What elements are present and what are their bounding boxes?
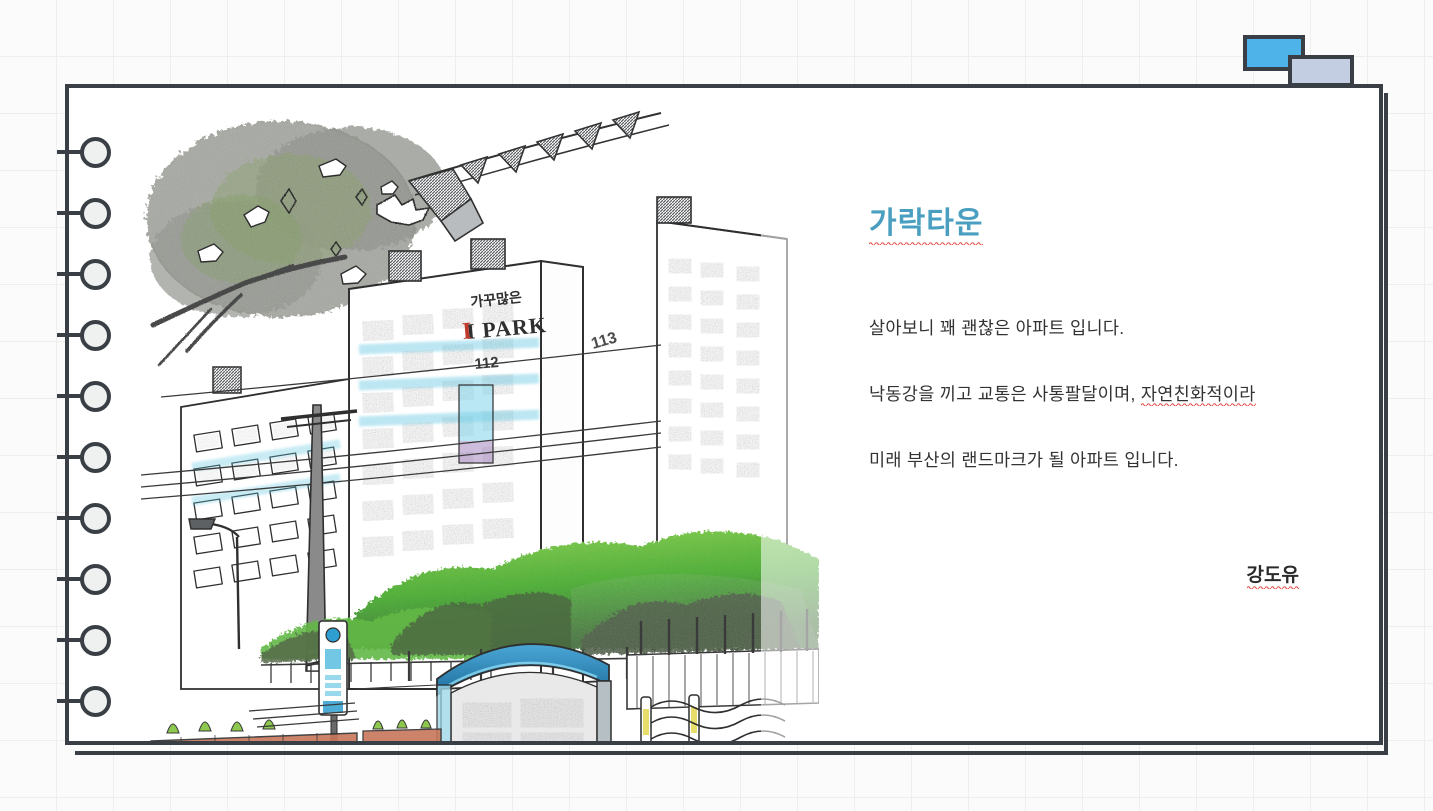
note-line-2: 낙동강을 끼고 교통은 사통팔달이며, 자연친화적이라 (869, 381, 1369, 406)
note-line-2-plain: 낙동강을 끼고 교통은 사통팔달이며, (869, 384, 1141, 404)
note-signature: 강도유 (869, 560, 1369, 589)
spiral-ring-5 (80, 381, 111, 412)
spiral-ring-7 (80, 503, 111, 534)
grey-block-shape (1288, 55, 1354, 87)
slide-canvas: { "background": { "grid_color": "#eeeeee… (0, 0, 1433, 811)
spiral-ring-1 (80, 137, 111, 168)
note-line-1: 살아보니 꽤 괜찮은 아파트 입니다. (869, 315, 1369, 340)
spiral-ring-2 (80, 198, 111, 229)
note-signature-text: 강도유 (1247, 560, 1299, 589)
spiral-ring-8 (80, 564, 111, 595)
spiral-ring-9 (80, 625, 111, 656)
notebook-card: 가꾸많은 I PARK I 112 113 (65, 84, 1383, 745)
apartment-sketch-image: 가꾸많은 I PARK I 112 113 (141, 89, 819, 744)
note-title: 가락타운 (869, 198, 983, 245)
spiral-ring-3 (80, 259, 111, 290)
note-line-3: 미래 부산의 랜드마크가 될 아파트 입니다. (869, 447, 1369, 472)
note-line-2-flagged-text: 자연친화적이라 (1141, 384, 1256, 406)
note-text-panel: 가락타운 살아보니 꽤 괜찮은 아파트 입니다. 낙동강을 끼고 교통은 사통팔… (869, 198, 1369, 589)
spiral-ring-6 (80, 442, 111, 473)
sketch-svg: 가꾸많은 I PARK I 112 113 (141, 89, 819, 744)
spiral-ring-10 (80, 686, 111, 717)
spiral-ring-4 (80, 320, 111, 351)
street-planter-right (363, 720, 441, 744)
